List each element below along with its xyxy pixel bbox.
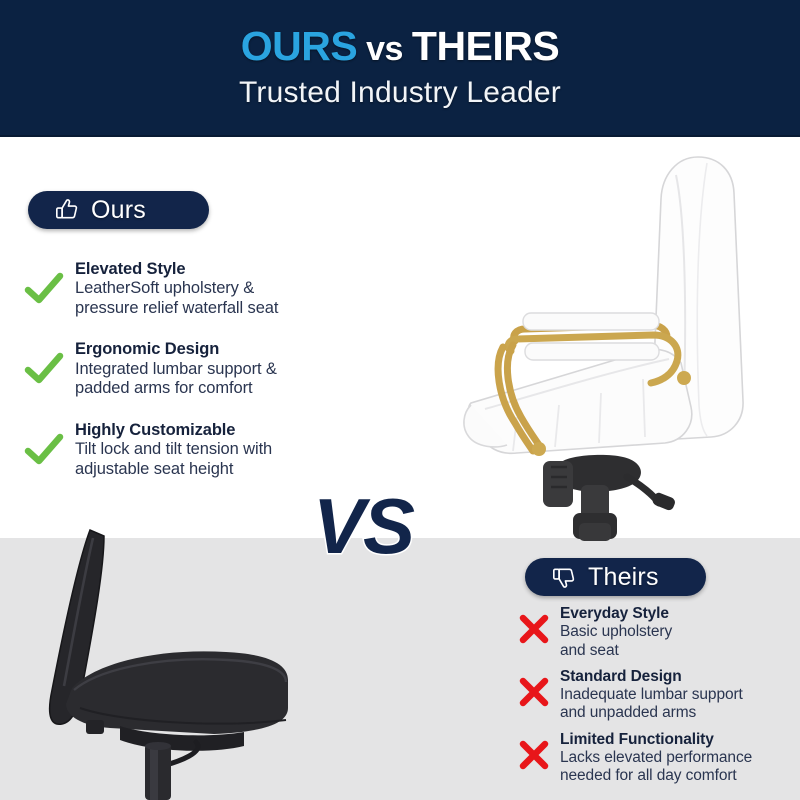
feature-title: Elevated Style	[75, 260, 278, 279]
list-item: Highly Customizable Tilt lock and tilt t…	[24, 419, 344, 479]
cross-icon	[518, 613, 550, 645]
feature-title: Highly Customizable	[75, 421, 272, 440]
feature-desc: Basic upholsteryand seat	[560, 623, 672, 660]
check-icon	[24, 349, 64, 389]
cross-icon	[518, 739, 550, 771]
header-title-ours: OURS	[241, 23, 357, 69]
check-icon	[24, 430, 64, 470]
header-title-theirs: THEIRS	[412, 23, 559, 69]
thumbs-down-icon	[551, 564, 577, 590]
header-title-vs: vs	[357, 30, 412, 68]
white-office-chair-illustration	[464, 157, 743, 541]
theirs-badge: Theirs	[525, 558, 706, 596]
feature-title: Ergonomic Design	[75, 340, 277, 359]
list-item: Standard Design Inadequate lumbar suppor…	[518, 666, 793, 723]
header-banner: OURS vs THEIRS Trusted Industry Leader	[0, 0, 800, 137]
comparison-infographic: OURS vs THEIRS Trusted Industry Leader	[0, 0, 800, 800]
header-title: OURS vs THEIRS	[241, 26, 560, 67]
list-item: Everyday Style Basic upholsteryand seat	[518, 603, 793, 660]
header-subtitle: Trusted Industry Leader	[239, 76, 561, 110]
ours-badge-label: Ours	[91, 198, 146, 223]
thumbs-up-icon	[54, 197, 80, 223]
theirs-badge-label: Theirs	[588, 565, 659, 590]
check-icon	[24, 269, 64, 309]
feature-title: Standard Design	[560, 668, 743, 686]
feature-desc: Inadequate lumbar supportand unpadded ar…	[560, 686, 743, 723]
feature-desc: Lacks elevated performanceneeded for all…	[560, 749, 752, 786]
feature-title: Everyday Style	[560, 605, 672, 623]
feature-desc: LeatherSoft upholstery &pressure relief …	[75, 279, 278, 318]
theirs-product-image	[0, 528, 290, 800]
cross-icon	[518, 676, 550, 708]
ours-feature-list: Elevated Style LeatherSoft upholstery &p…	[24, 258, 344, 499]
feature-desc: Integrated lumbar support &padded arms f…	[75, 360, 277, 399]
feature-title: Limited Functionality	[560, 731, 752, 749]
black-office-chair-illustration	[50, 530, 288, 800]
ours-badge: Ours	[28, 191, 209, 229]
list-item: Limited Functionality Lacks elevated per…	[518, 729, 793, 786]
list-item: Elevated Style LeatherSoft upholstery &p…	[24, 258, 344, 318]
theirs-feature-list: Everyday Style Basic upholsteryand seat …	[518, 603, 793, 792]
feature-desc: Tilt lock and tilt tension withadjustabl…	[75, 440, 272, 479]
ours-product-image	[455, 155, 800, 545]
list-item: Ergonomic Design Integrated lumbar suppo…	[24, 338, 344, 398]
